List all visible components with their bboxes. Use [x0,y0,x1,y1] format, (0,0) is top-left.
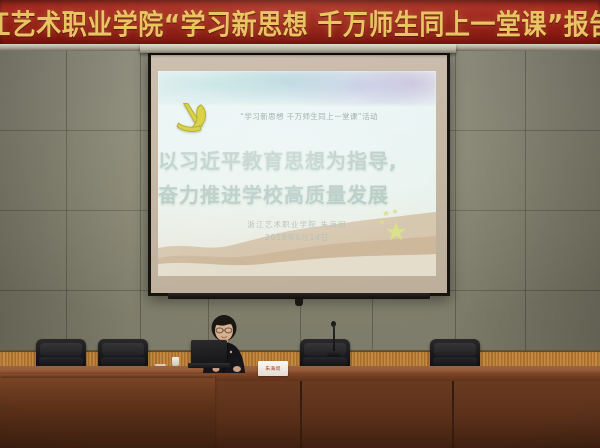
slide-title-line-2: 奋力推进学校高质量发展 [158,179,436,208]
pen [155,364,166,366]
microphone-stem [333,325,335,353]
microphone-base [327,351,341,357]
water-cup [172,357,179,366]
projector-screen-pull-knob[interactable] [295,299,303,306]
event-banner: 浙江艺术职业学院“学习新思想 千万师生同上一堂课”报告会 [0,0,600,48]
slide-eyebrow-text: “学习新思想 千万师生同上一堂课”活动 [158,111,436,122]
banner-title: 浙江艺术职业学院“学习新思想 千万师生同上一堂课”报告会 [0,10,600,38]
chair-5 [430,339,480,369]
slide-title-line-1: 以习近平教育思想为指导, [158,145,436,174]
conference-photo: 浙江艺术职业学院“学习新思想 千万师生同上一堂课”报告会 [0,0,600,448]
chair-4 [300,339,350,369]
chinese-flag-stars-icon [370,208,420,242]
laptop[interactable] [191,340,227,364]
projection-screen: “学习新思想 千万师生同上一堂课”活动 以习近平教育思想为指导, 奋力推进学校高… [148,52,450,296]
presentation-slide: “学习新思想 千万师生同上一堂课”活动 以习近平教育思想为指导, 奋力推进学校高… [158,71,436,276]
chair-2 [98,339,148,369]
chair-1 [36,339,86,369]
table-gloss [0,366,600,373]
name-plate: 朱海闵 [258,361,288,376]
left-desk-front [0,378,215,448]
name-plate-text: 朱海闵 [265,365,280,372]
projector-screen-housing [140,44,456,53]
